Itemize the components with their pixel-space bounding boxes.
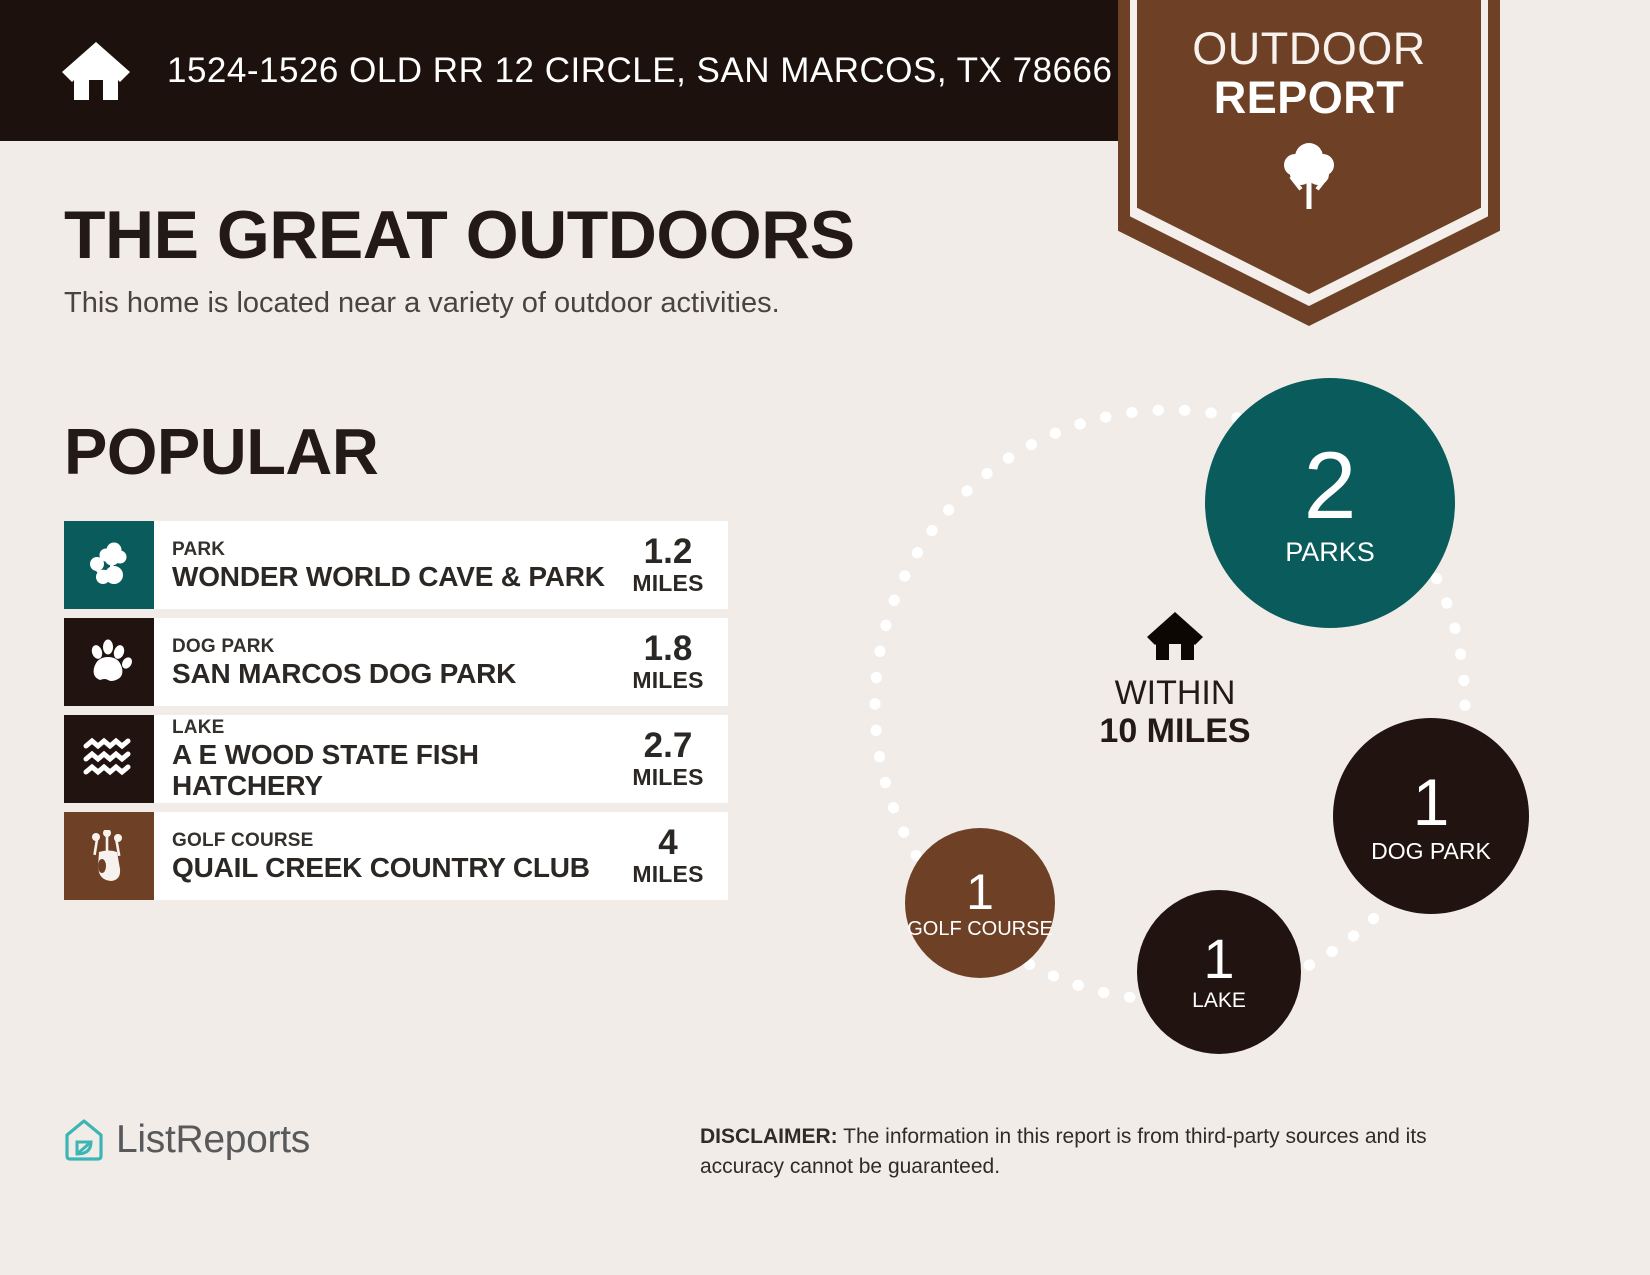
row-category: PARK [172, 539, 616, 561]
distance-unit: MILES [632, 667, 703, 693]
distance-value: 1.8 [644, 631, 693, 667]
outdoor-report-page: 1524-1526 OLD RR 12 CIRCLE, SAN MARCOS, … [0, 0, 1650, 1275]
home-icon [1145, 610, 1205, 662]
row-icon-tile [64, 812, 154, 900]
row-distance: 1.8 MILES [616, 618, 728, 706]
water-waves-icon [83, 737, 135, 781]
row-name: QUAIL CREEK COUNTRY CLUB [172, 852, 616, 883]
row-distance: 2.7 MILES [616, 715, 728, 803]
bubble-count: 1 [1413, 769, 1450, 835]
row-category: GOLF COURSE [172, 830, 616, 852]
row-category: DOG PARK [172, 636, 616, 658]
list-item[interactable]: LAKE A E WOOD STATE FISH HATCHERY 2.7 MI… [64, 715, 728, 803]
row-icon-tile [64, 618, 154, 706]
badge-line-2: REPORT [1214, 73, 1405, 123]
badge-core: OUTDOOR REPORT [1137, 0, 1481, 294]
row-icon-tile [64, 715, 154, 803]
outdoor-report-badge: OUTDOOR REPORT [1118, 0, 1500, 326]
distance-value: 1.2 [644, 534, 693, 570]
bubble-dog-park[interactable]: 1 DOG PARK [1333, 718, 1529, 914]
disclaimer-label: DISCLAIMER: [700, 1125, 838, 1148]
center-label-line2: 10 MILES [1085, 712, 1265, 750]
distance-value: 2.7 [644, 728, 693, 764]
within-10-miles-diagram: WITHIN 10 MILES 2 PARKS 1 DOG PARK 1 LAK… [820, 360, 1520, 1050]
bubble-parks[interactable]: 2 PARKS [1205, 378, 1455, 628]
listreports-logo[interactable]: ListReports [64, 1118, 310, 1162]
header-address: 1524-1526 OLD RR 12 CIRCLE, SAN MARCOS, … [167, 51, 1112, 91]
bubble-label: GOLF COURSE [907, 919, 1053, 940]
header-bar: 1524-1526 OLD RR 12 CIRCLE, SAN MARCOS, … [0, 0, 1240, 141]
distance-unit: MILES [632, 764, 703, 790]
row-icon-tile [64, 521, 154, 609]
page-subtitle: This home is located near a variety of o… [64, 287, 780, 320]
row-name: WONDER WORLD CAVE & PARK [172, 561, 616, 592]
list-item[interactable]: DOG PARK SAN MARCOS DOG PARK 1.8 MILES [64, 618, 728, 706]
row-text: PARK WONDER WORLD CAVE & PARK [154, 521, 616, 609]
disclaimer: DISCLAIMER: The information in this repo… [700, 1122, 1510, 1182]
tree-icon [1277, 139, 1341, 211]
list-item[interactable]: PARK WONDER WORLD CAVE & PARK 1.2 MILES [64, 521, 728, 609]
popular-list: PARK WONDER WORLD CAVE & PARK 1.2 MILES [64, 521, 728, 909]
row-category: LAKE [172, 717, 616, 739]
center-label-line1: WITHIN [1085, 674, 1265, 712]
bubble-golf-course[interactable]: 1 GOLF COURSE [905, 828, 1055, 978]
badge-line-1: OUTDOOR [1192, 25, 1426, 73]
list-item[interactable]: GOLF COURSE QUAIL CREEK COUNTRY CLUB 4 M… [64, 812, 728, 900]
bubble-count: 1 [1203, 931, 1234, 987]
bubble-label: LAKE [1192, 990, 1246, 1012]
paw-print-icon [84, 637, 134, 687]
bubble-lake[interactable]: 1 LAKE [1137, 890, 1301, 1054]
row-name: SAN MARCOS DOG PARK [172, 658, 616, 689]
distance-value: 4 [658, 825, 677, 861]
bubble-count: 1 [966, 867, 994, 917]
row-name: A E WOOD STATE FISH HATCHERY [172, 739, 616, 801]
row-distance: 4 MILES [616, 812, 728, 900]
row-text: DOG PARK SAN MARCOS DOG PARK [154, 618, 616, 706]
distance-unit: MILES [632, 861, 703, 887]
diagram-center: WITHIN 10 MILES [1085, 610, 1265, 750]
bubble-count: 2 [1304, 439, 1357, 534]
listreports-wordmark: ListReports [116, 1118, 310, 1162]
home-icon [60, 40, 132, 102]
listreports-house-leaf-icon [64, 1118, 104, 1162]
row-text: GOLF COURSE QUAIL CREEK COUNTRY CLUB [154, 812, 616, 900]
golf-bag-icon [86, 830, 132, 882]
row-text: LAKE A E WOOD STATE FISH HATCHERY [154, 715, 616, 803]
row-distance: 1.2 MILES [616, 521, 728, 609]
distance-unit: MILES [632, 570, 703, 596]
bubble-label: PARKS [1285, 538, 1375, 566]
section-title-popular: POPULAR [64, 414, 378, 489]
park-tree-icon [84, 540, 134, 590]
bubble-label: DOG PARK [1371, 839, 1491, 863]
page-title: THE GREAT OUTDOORS [64, 196, 855, 274]
